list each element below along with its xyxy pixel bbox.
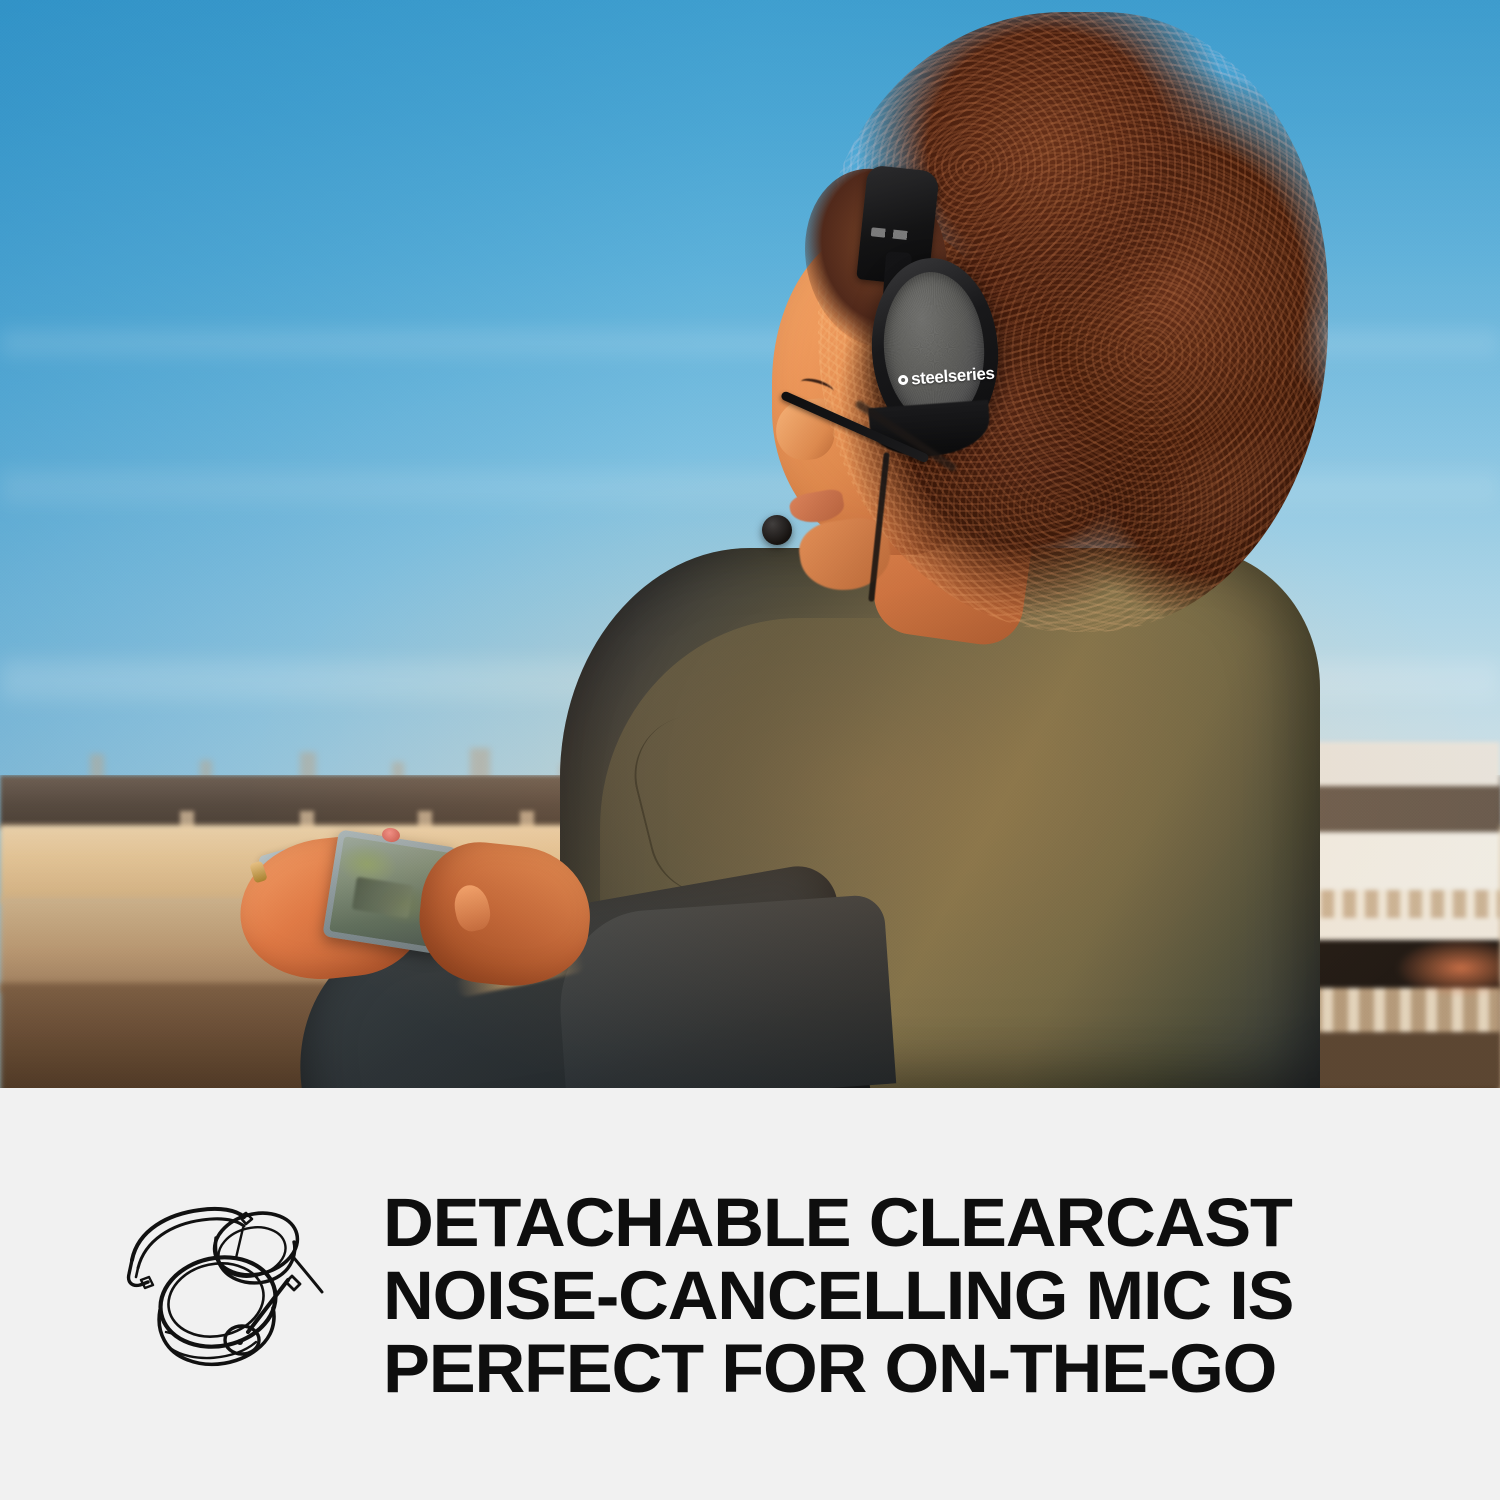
caption-headline: DETACHABLE CLEARCAST NOISE-CANCELLING MI… xyxy=(383,1186,1423,1405)
caption-line-3: PERFECT FOR ON-THE-GO xyxy=(383,1332,1444,1405)
product-feature-card: steelseries xyxy=(0,0,1500,1500)
jacket-sleeve-forearm xyxy=(554,894,896,1088)
hero-photo: steelseries xyxy=(0,0,1500,1088)
caption-line-2: NOISE-CANCELLING MIC IS xyxy=(383,1259,1444,1332)
steelseries-mark-icon xyxy=(898,374,909,385)
boom-microphone-tip xyxy=(762,515,792,545)
folded-headset-with-detached-mic-icon xyxy=(96,1192,346,1402)
caption-line-1: DETACHABLE CLEARCAST xyxy=(383,1186,1444,1259)
person-subject: steelseries xyxy=(0,0,1500,1088)
